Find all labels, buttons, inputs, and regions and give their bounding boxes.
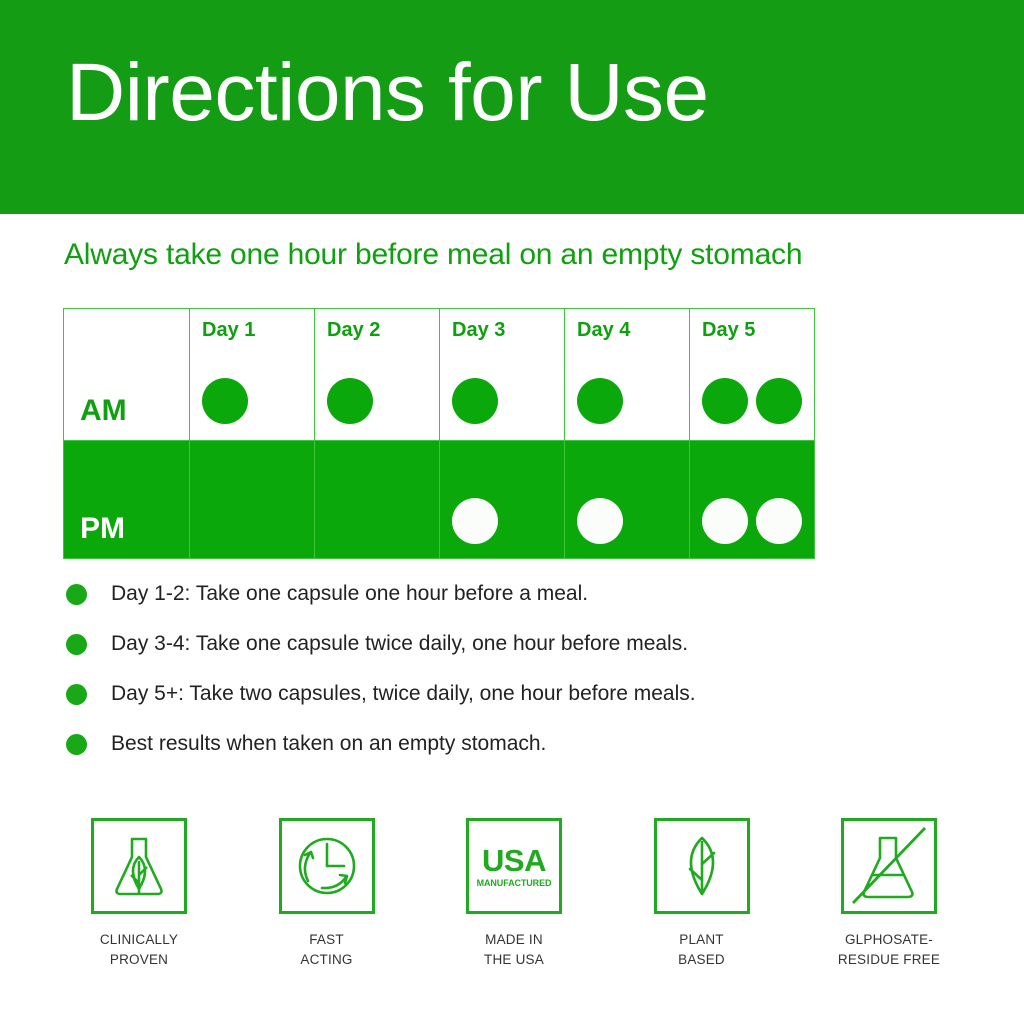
clock-arrows-icon <box>292 831 362 901</box>
schedule-cell-pm-day1 <box>190 441 315 559</box>
badge-made-in-usa: USA MANUFACTURED MADE IN THE USA <box>439 818 589 969</box>
schedule-cell-pm-day5 <box>690 441 815 559</box>
day-header-3: Day 3 <box>452 319 505 342</box>
row-label-cell-pm: PM <box>64 441 190 559</box>
badge-box <box>841 818 937 914</box>
list-item-label: Day 5+: Take two capsules, twice daily, … <box>111 678 696 710</box>
badge-box <box>91 818 187 914</box>
badge-box <box>654 818 750 914</box>
bullet-dot-icon <box>66 634 87 655</box>
badge-plant-based: PLANT BASED <box>627 818 777 969</box>
capsule-icon <box>452 378 498 424</box>
badge-label: PLANT BASED <box>678 930 725 969</box>
badge-label: MADE IN THE USA <box>484 930 544 969</box>
badge-fast-acting: FAST ACTING <box>252 818 402 969</box>
bullet-dot-icon <box>66 584 87 605</box>
schedule-cell-am-day1: Day 1 <box>190 309 315 441</box>
bullet-dot-icon <box>66 734 87 755</box>
subtitle-text: Always take one hour before meal on an e… <box>64 238 802 272</box>
row-label-pm: PM <box>64 512 189 558</box>
list-item: Day 1-2: Take one capsule one hour befor… <box>66 578 946 628</box>
capsule-icon <box>327 378 373 424</box>
page-title: Directions for Use <box>66 52 709 134</box>
flask-leaf-icon <box>104 831 174 901</box>
badge-box <box>279 818 375 914</box>
schedule-cell-pm-day4 <box>565 441 690 559</box>
instructions-list: Day 1-2: Take one capsule one hour befor… <box>66 578 946 778</box>
list-item: Day 5+: Take two capsules, twice daily, … <box>66 678 946 728</box>
schedule-cell-am-day5: Day 5 <box>690 309 815 441</box>
capsule-icon <box>756 498 802 544</box>
list-item: Day 3-4: Take one capsule twice daily, o… <box>66 628 946 678</box>
badge-clinically-proven: CLINICALLY PROVEN <box>64 818 214 969</box>
bullet-dot-icon <box>66 684 87 705</box>
capsule-icon <box>702 378 748 424</box>
trust-badges-row: CLINICALLY PROVEN FAST ACTING USA MANU <box>64 818 964 969</box>
badge-box: USA MANUFACTURED <box>466 818 562 914</box>
capsule-icon <box>202 378 248 424</box>
list-item-label: Best results when taken on an empty stom… <box>111 728 546 760</box>
list-item-label: Day 3-4: Take one capsule twice daily, o… <box>111 628 688 660</box>
leaf-icon <box>667 831 737 901</box>
row-label-cell-am: AM <box>64 309 190 441</box>
list-item: Best results when taken on an empty stom… <box>66 728 946 778</box>
schedule-cell-am-day4: Day 4 <box>565 309 690 441</box>
badge-glyphosate-residue-free: GLPHOSATE- RESIDUE FREE <box>814 818 964 969</box>
dosage-schedule-table: AM Day 1 Day 2 Day 3 <box>63 308 815 559</box>
row-label-am: AM <box>64 394 189 440</box>
usa-sub-text: MANUFACTURED <box>477 879 552 888</box>
badge-label: GLPHOSATE- RESIDUE FREE <box>838 930 940 969</box>
list-item-label: Day 1-2: Take one capsule one hour befor… <box>111 578 588 610</box>
badge-label: CLINICALLY PROVEN <box>100 930 178 969</box>
capsule-icon <box>756 378 802 424</box>
usa-manufactured-icon: USA MANUFACTURED <box>477 845 552 888</box>
flask-crossed-out-icon <box>847 824 931 908</box>
directions-for-use-page: Directions for Use Always take one hour … <box>0 0 1024 1024</box>
table-row-pm: PM <box>64 441 815 559</box>
schedule-cell-am-day2: Day 2 <box>315 309 440 441</box>
day-header-5: Day 5 <box>702 319 755 342</box>
day-header-4: Day 4 <box>577 319 630 342</box>
capsule-icon <box>577 498 623 544</box>
capsule-icon <box>702 498 748 544</box>
table-row-am: AM Day 1 Day 2 Day 3 <box>64 309 815 441</box>
header-banner: Directions for Use <box>0 0 1024 214</box>
capsule-icon <box>452 498 498 544</box>
schedule-cell-pm-day3 <box>440 441 565 559</box>
day-header-1: Day 1 <box>202 319 255 342</box>
capsule-icon <box>577 378 623 424</box>
badge-label: FAST ACTING <box>300 930 352 969</box>
day-header-2: Day 2 <box>327 319 380 342</box>
schedule-cell-pm-day2 <box>315 441 440 559</box>
schedule-cell-am-day3: Day 3 <box>440 309 565 441</box>
usa-main-text: USA <box>482 845 546 876</box>
